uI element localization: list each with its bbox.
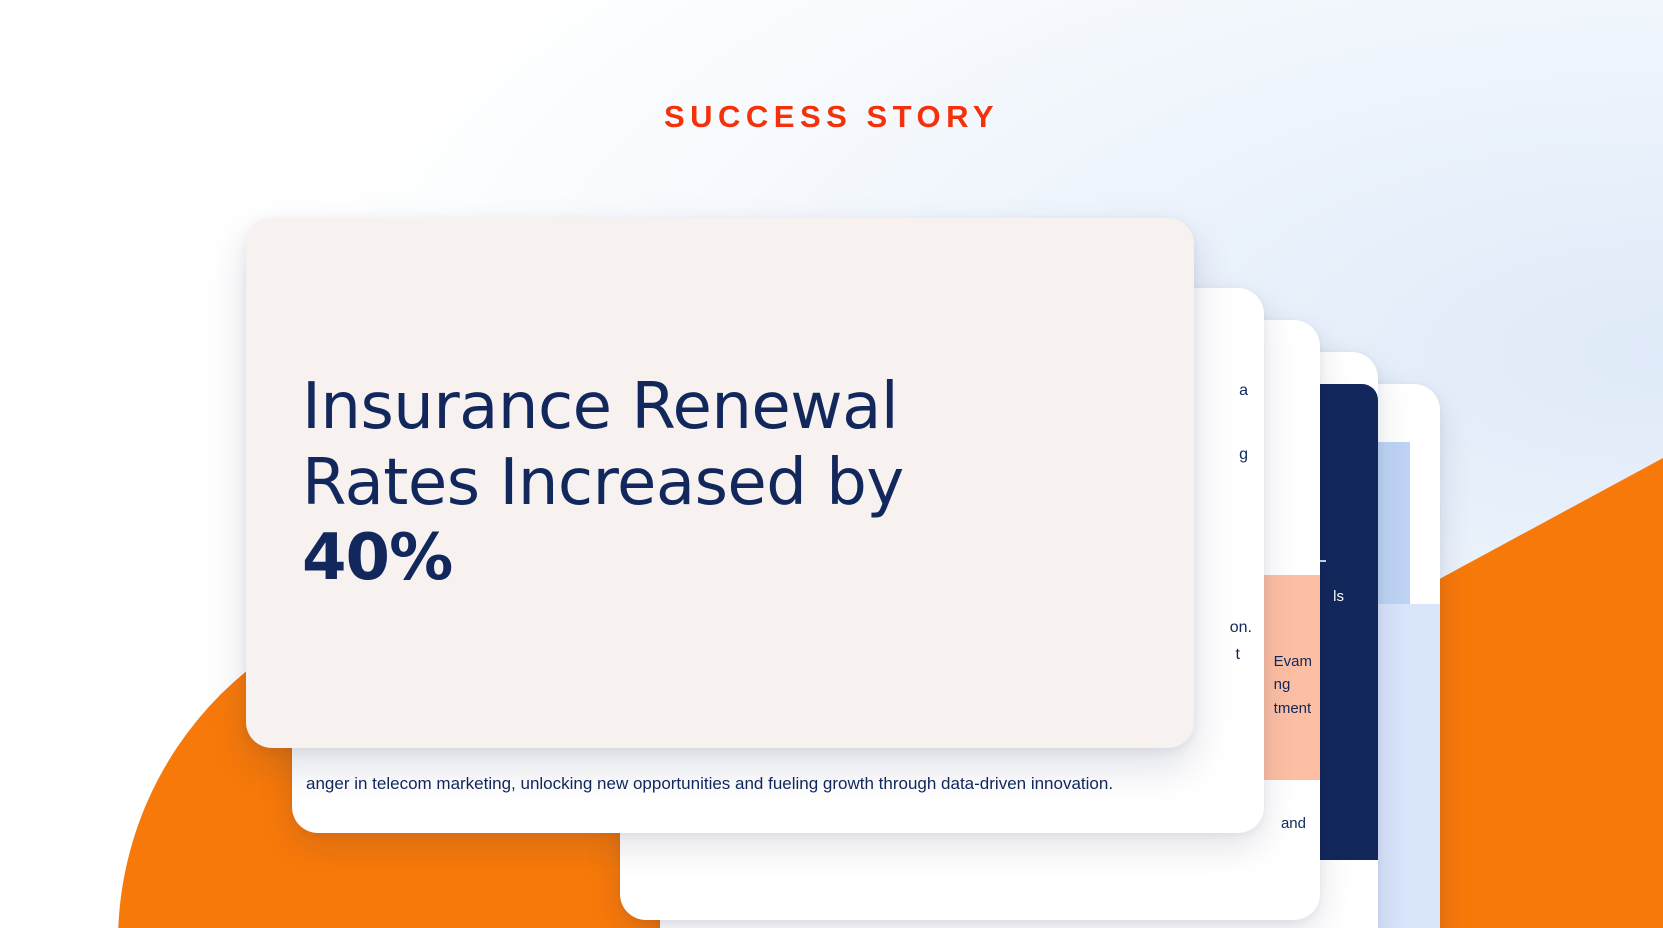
body-card-fragment-g: g	[1239, 446, 1248, 464]
navy-card-text-fragment: ls	[1333, 586, 1344, 609]
slide-canvas: SUCCESS STORY ls Evam ng tment and a g o…	[0, 0, 1663, 928]
body-card-fragment-on: on.	[1230, 619, 1252, 637]
front-card-title: Insurance Renewal Rates Increased by 40%	[302, 370, 1062, 597]
body-card-fragment-a: a	[1239, 382, 1248, 400]
body-card-paragraph: anger in telecom marketing, unlocking ne…	[306, 772, 1264, 797]
front-card-title-line-2: Rates Increased by	[302, 446, 904, 520]
peach-card-bottom-fragment: and	[1281, 815, 1306, 832]
peach-card-text-fragment: Evam ng tment	[1274, 650, 1312, 720]
card-stack: ls Evam ng tment and a g on. t anger in …	[0, 0, 1663, 928]
front-card[interactable]: Insurance Renewal Rates Increased by 40%	[246, 218, 1194, 748]
front-card-title-metric: 40%	[302, 521, 1062, 597]
body-card-fragment-t: t	[1236, 646, 1240, 664]
front-card-title-line-1: Insurance Renewal	[302, 370, 898, 444]
